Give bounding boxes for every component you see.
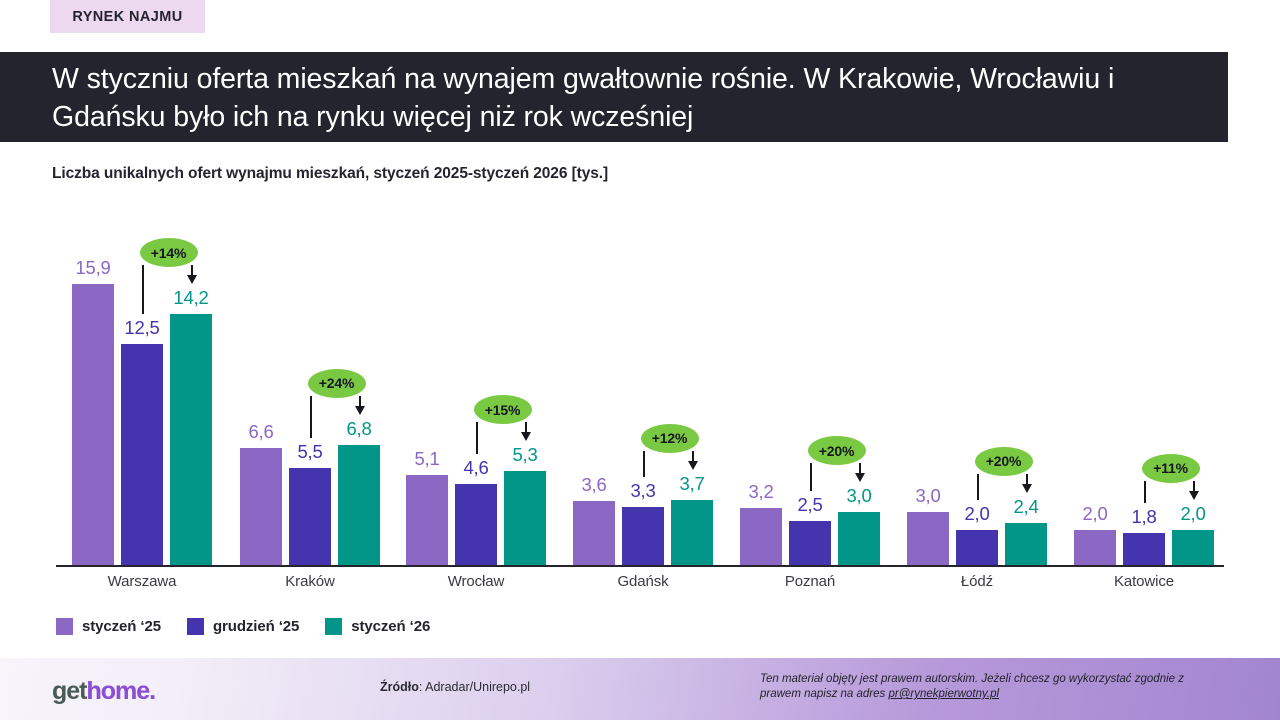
legend-label: styczeń ‘26 bbox=[351, 618, 430, 635]
bar-value-label: 6,8 bbox=[335, 418, 383, 440]
section-tag: RYNEK NAJMU bbox=[50, 0, 205, 33]
bar-value-label: 2,5 bbox=[786, 494, 834, 516]
x-axis-label-katowice: Katowice bbox=[1056, 573, 1232, 590]
badge-arrow-head bbox=[1189, 491, 1199, 500]
headline-band: W styczniu oferta mieszkań na wynajem gw… bbox=[0, 52, 1228, 142]
badge-arrow-head bbox=[355, 406, 365, 415]
bar-gdańsk-series1 bbox=[573, 501, 615, 565]
badge-arrow-line bbox=[692, 451, 694, 462]
bar-value-label: 3,0 bbox=[835, 485, 883, 507]
badge-arrow-line bbox=[859, 463, 861, 474]
x-axis-line bbox=[56, 565, 1224, 567]
badge-arrow-head bbox=[187, 275, 197, 284]
x-axis-label-kraków: Kraków bbox=[222, 573, 398, 590]
bar-value-label: 3,3 bbox=[619, 480, 667, 502]
growth-badge-wrocław: +15% bbox=[474, 395, 532, 424]
badge-arrow-head bbox=[521, 432, 531, 441]
bar-value-label: 15,9 bbox=[69, 257, 117, 279]
bar-kraków-series2 bbox=[289, 468, 331, 565]
copyright-line-1: Ten materiał objęty jest prawem autorski… bbox=[760, 673, 1132, 685]
bar-łódź-series2 bbox=[956, 530, 998, 565]
badge-connector-line bbox=[810, 463, 812, 491]
logo-text-home: home. bbox=[87, 677, 156, 705]
legend-swatch-icon bbox=[187, 618, 204, 635]
bar-value-label: 1,8 bbox=[1120, 506, 1168, 528]
bar-kraków-series1 bbox=[240, 448, 282, 565]
bar-value-label: 5,3 bbox=[501, 444, 549, 466]
bar-wrocław-series1 bbox=[406, 475, 448, 565]
bar-katowice-series1 bbox=[1074, 530, 1116, 565]
x-axis-label-gdańsk: Gdańsk bbox=[555, 573, 731, 590]
growth-badge-poznań: +20% bbox=[808, 436, 866, 465]
chart-subtitle: Liczba unikalnych ofert wynajmu mieszkań… bbox=[52, 165, 608, 183]
source-value: : Adradar/Unirepo.pl bbox=[419, 680, 530, 694]
chart-legend: styczeń ‘25grudzień ‘25styczeń ‘26 bbox=[56, 618, 456, 635]
logo-text-get: get bbox=[52, 677, 87, 705]
growth-badge-kraków: +24% bbox=[308, 369, 366, 398]
badge-arrow-line bbox=[1026, 474, 1028, 485]
chart-subtitle-text: Liczba unikalnych ofert wynajmu mieszkań… bbox=[52, 165, 567, 182]
bar-value-label: 2,0 bbox=[1071, 503, 1119, 525]
badge-arrow-line bbox=[191, 265, 193, 276]
badge-arrow-head bbox=[688, 461, 698, 470]
legend-item-3[interactable]: styczeń ‘26 bbox=[325, 618, 430, 635]
bar-value-label: 2,0 bbox=[953, 503, 1001, 525]
chart-subtitle-unit: [tys.] bbox=[572, 165, 608, 182]
source-label: Źródło bbox=[380, 680, 419, 694]
bar-value-label: 2,4 bbox=[1002, 496, 1050, 518]
bar-katowice-series3 bbox=[1172, 530, 1214, 565]
section-tag-label: RYNEK NAJMU bbox=[72, 9, 182, 25]
growth-badge-warszawa: +14% bbox=[140, 238, 198, 267]
bar-value-label: 3,6 bbox=[570, 474, 618, 496]
badge-connector-line bbox=[977, 474, 979, 500]
badge-arrow-line bbox=[1193, 481, 1195, 492]
x-axis-label-poznań: Poznań bbox=[722, 573, 898, 590]
bar-wrocław-series3 bbox=[504, 471, 546, 565]
growth-badge-łódź: +20% bbox=[975, 447, 1033, 476]
bar-warszawa-series1 bbox=[72, 284, 114, 565]
badge-connector-line bbox=[643, 451, 645, 477]
bar-łódź-series1 bbox=[907, 512, 949, 565]
badge-arrow-line bbox=[359, 396, 361, 407]
badge-connector-line bbox=[1144, 481, 1146, 504]
badge-connector-line bbox=[476, 422, 478, 453]
bar-value-label: 6,6 bbox=[237, 421, 285, 443]
bar-gdańsk-series2 bbox=[622, 507, 664, 565]
bar-poznań-series1 bbox=[740, 508, 782, 565]
bar-value-label: 3,7 bbox=[668, 473, 716, 495]
x-axis-label-łódź: Łódź bbox=[889, 573, 1065, 590]
legend-label: grudzień ‘25 bbox=[213, 618, 299, 635]
bar-poznań-series3 bbox=[838, 512, 880, 565]
legend-item-2[interactable]: grudzień ‘25 bbox=[187, 618, 299, 635]
legend-label: styczeń ‘25 bbox=[82, 618, 161, 635]
legend-item-1[interactable]: styczeń ‘25 bbox=[56, 618, 161, 635]
bar-value-label: 14,2 bbox=[167, 287, 215, 309]
bar-value-label: 5,1 bbox=[403, 448, 451, 470]
bar-value-label: 2,0 bbox=[1169, 503, 1217, 525]
bar-wrocław-series2 bbox=[455, 484, 497, 565]
badge-arrow-head bbox=[855, 473, 865, 482]
x-axis-label-warszawa: Warszawa bbox=[54, 573, 230, 590]
copyright-note: Ten materiał objęty jest prawem autorski… bbox=[760, 672, 1210, 702]
badge-arrow-line bbox=[525, 422, 527, 433]
bar-kraków-series3 bbox=[338, 445, 380, 565]
bar-poznań-series2 bbox=[789, 521, 831, 565]
bar-value-label: 12,5 bbox=[118, 317, 166, 339]
bar-value-label: 3,2 bbox=[737, 481, 785, 503]
badge-connector-line bbox=[142, 265, 144, 314]
bar-warszawa-series2 bbox=[121, 344, 163, 565]
bar-katowice-series2 bbox=[1123, 533, 1165, 565]
legend-swatch-icon bbox=[56, 618, 73, 635]
bar-value-label: 4,6 bbox=[452, 457, 500, 479]
gethome-logo[interactable]: gethome. bbox=[52, 677, 155, 706]
bar-łódź-series3 bbox=[1005, 523, 1047, 565]
bar-warszawa-series3 bbox=[170, 314, 212, 565]
growth-badge-gdańsk: +12% bbox=[641, 424, 699, 453]
badge-arrow-head bbox=[1022, 484, 1032, 493]
legend-swatch-icon bbox=[325, 618, 342, 635]
badge-connector-line bbox=[310, 396, 312, 438]
page-title: W styczniu oferta mieszkań na wynajem gw… bbox=[52, 60, 1212, 136]
x-axis-label-wrocław: Wrocław bbox=[388, 573, 564, 590]
bar-value-label: 5,5 bbox=[286, 441, 334, 463]
bar-gdańsk-series3 bbox=[671, 500, 713, 565]
source-note: Źródło: Adradar/Unirepo.pl bbox=[380, 680, 530, 694]
footer-bar: gethome. Źródło: Adradar/Unirepo.pl Ten … bbox=[0, 658, 1280, 720]
contact-email-link[interactable]: pr@rynekpierwotny.pl bbox=[888, 688, 999, 700]
bar-value-label: 3,0 bbox=[904, 485, 952, 507]
growth-badge-katowice: +11% bbox=[1142, 454, 1200, 483]
